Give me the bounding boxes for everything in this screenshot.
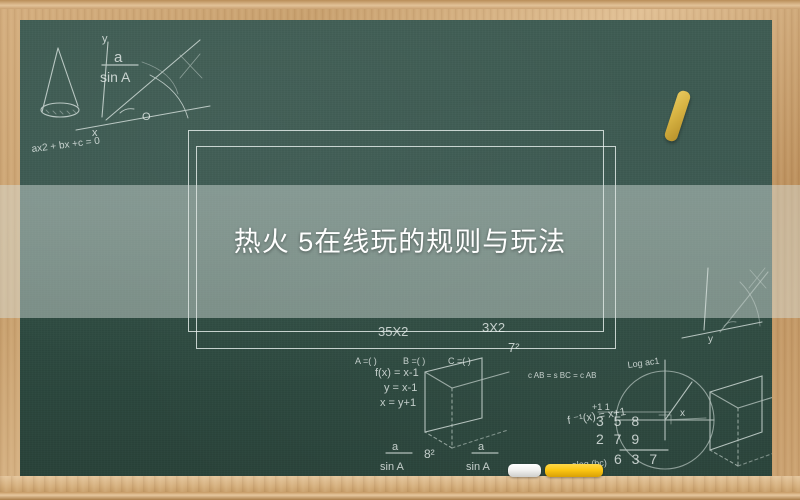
white-chalk-stick [508,464,541,477]
chalk-frac3-num: a [478,441,485,453]
chalk-fraction-numerator: a [114,49,123,66]
chalk-function-2: y = x-1 [384,382,417,394]
chalkboard-banner: a sin A y x O ax2 + bx +c = 0 35X2 3X2 A… [0,0,800,500]
chalk-frac2-num: a [392,441,399,453]
page-title: 热火 5在线玩的规则与玩法 [0,222,800,262]
chalk-matrix-b: B =( ) [403,356,425,366]
chalk-matrix-a: A =( ) [355,356,377,366]
chalk-frac3-den: sin A [466,461,491,473]
chalk-function-3: x = y+1 [380,397,416,409]
chalk-frac2-den: sin A [380,461,405,473]
chalk-axis-y: y [102,33,108,45]
chalk-triangle-rule: c AB = s BC = c AB [528,371,596,380]
chalk-inverse-function: f ⁻¹(x) = x+1 [567,406,627,427]
chalk-quadratic: ax2 + bx +c = 0 [31,136,101,155]
chalk-right-axis-y: y [708,334,713,345]
chalk-function-1: f(x) = x-1 [375,367,419,379]
chalk-addend-1: 3 5 8 [596,413,642,429]
frame-bevel-top [0,0,800,9]
chalk-matrix-c: C =( ) [448,356,471,366]
chalk-addition-carry: +1 1 [592,402,610,412]
chalk-mult-2: 3X2 [482,320,505,335]
chalk-addend-2: 2 7 9 [596,431,642,447]
chalk-right-axis-x: x [680,408,685,419]
frame-bevel-bottom [0,492,800,500]
chalk-angle-label: O [142,111,151,123]
chalk-axis-x: x [92,127,98,139]
chalk-sum: 6 3 7 [614,451,660,467]
chalk-log-label: Log ac1 [627,356,660,370]
chalk-fraction-denominator: sin A [100,69,131,85]
yellow-chalk-stick [545,464,603,477]
chalk-power-7: 7² [508,340,520,355]
chalk-power-8: 8² [424,447,435,461]
chalk-mult-1: 35X2 [378,324,408,339]
